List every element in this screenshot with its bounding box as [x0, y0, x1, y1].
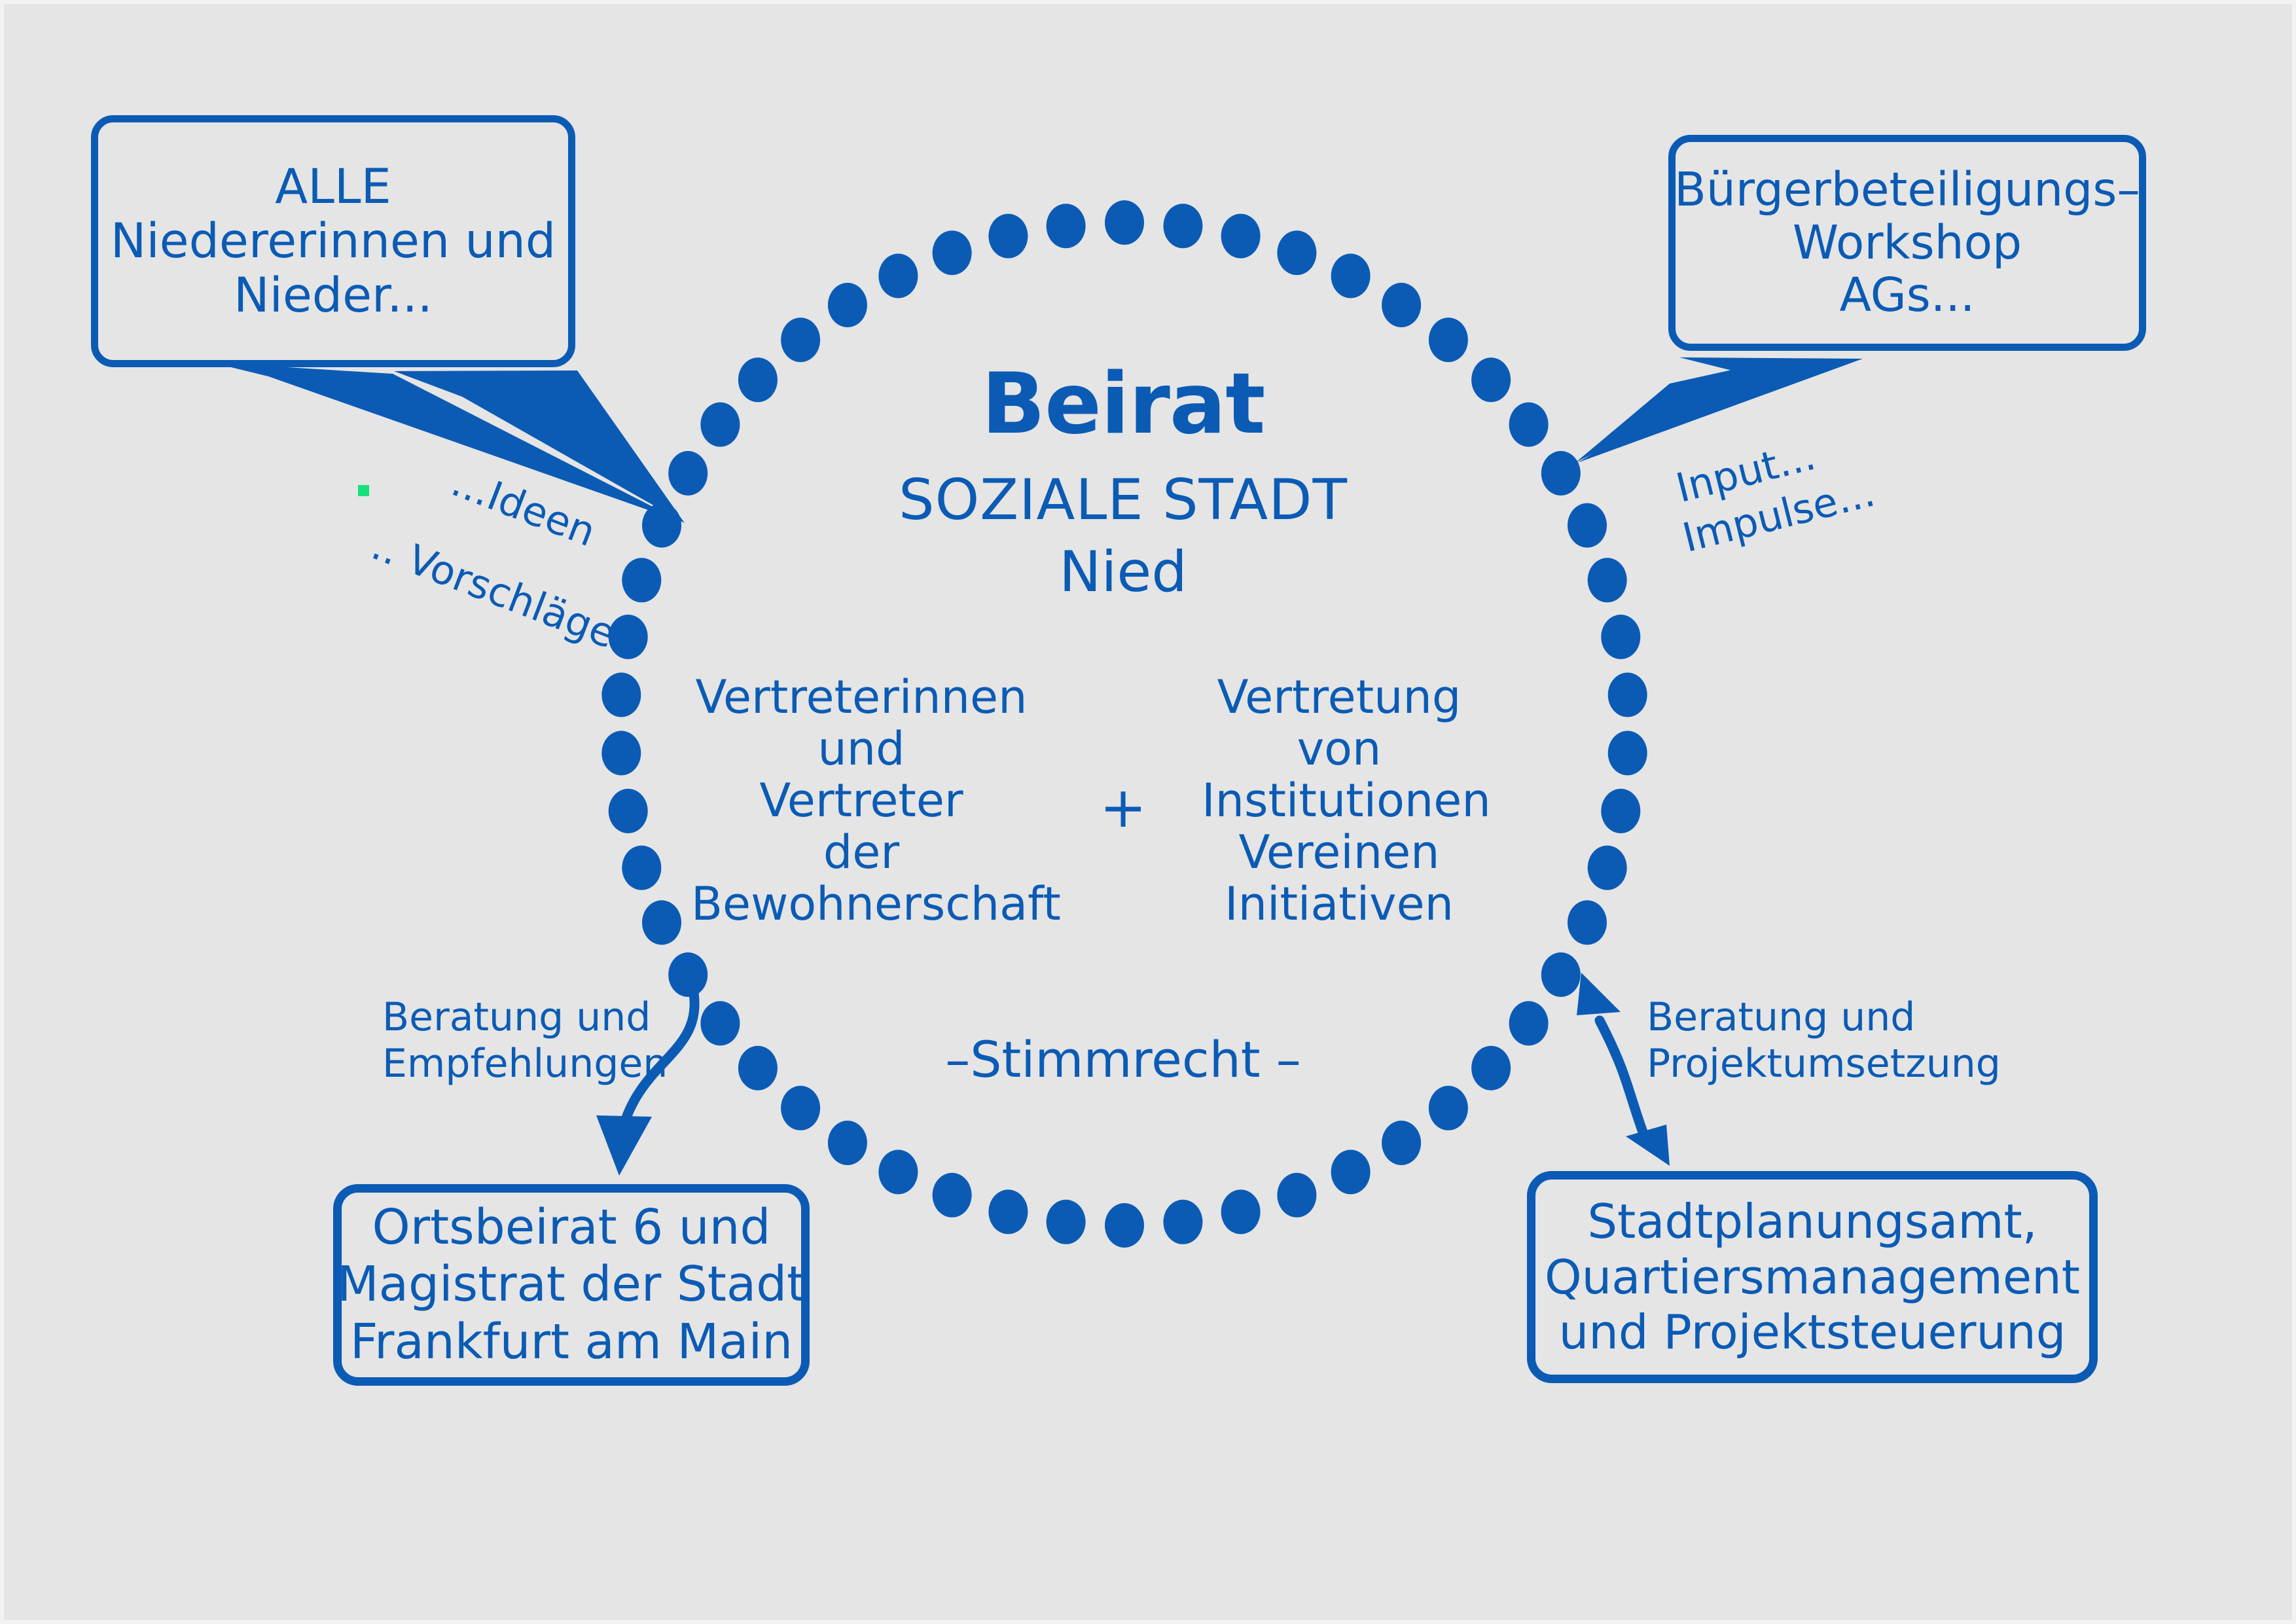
ring-dot	[668, 451, 708, 496]
ring-dot	[988, 1189, 1028, 1234]
bubble-alle-line-1: ALLE	[275, 160, 391, 214]
bubble-buerger-line-1: Bürgerbeteiligungs–	[1674, 164, 2140, 217]
ring-dot	[1588, 558, 1627, 602]
ring-dot	[1047, 204, 1086, 248]
ring-dot	[878, 254, 918, 298]
ring-dot	[1163, 204, 1202, 248]
ring-dot	[1429, 1086, 1468, 1130]
ring-dot	[1541, 451, 1581, 496]
center-right-column: Vertretung von Institutionen Vereinen In…	[1202, 672, 1477, 930]
box-stadtplanung-line-1: Stadtplanungsamt,	[1587, 1194, 2037, 1250]
right-column-line-2: von	[1202, 723, 1477, 775]
arrow-left-head	[596, 1115, 652, 1176]
box-ortsbeirat-line-1: Ortsbeirat 6 und	[372, 1199, 771, 1256]
ring-dot	[601, 731, 641, 776]
bubble-alle-line-3: Nieder...	[234, 268, 433, 323]
ring-dot	[1105, 200, 1144, 245]
ring-dot	[828, 1121, 867, 1165]
left-column-line-1: Vertreterinnen	[691, 672, 1031, 723]
ring-dot	[988, 214, 1028, 259]
right-column-line-1: Vertretung	[1202, 672, 1477, 723]
ring-dot	[1541, 952, 1581, 997]
ring-dot	[1601, 615, 1640, 659]
ring-dot	[1105, 1203, 1144, 1248]
ring-dot	[1608, 673, 1647, 717]
arrow-right-curve	[1600, 1020, 1647, 1143]
box-stadtplanungsamt[interactable]: Stadtplanungsamt, Quartiersmanagement un…	[1527, 1171, 2098, 1383]
ring-dot	[1471, 1046, 1511, 1091]
ring-dot	[1221, 1189, 1261, 1234]
annotation-beratung-empfehlungen: Beratung und Empfehlungen	[382, 994, 637, 1087]
ring-dot	[738, 1046, 778, 1091]
ring-dot	[828, 283, 867, 327]
ring-dot	[1471, 357, 1511, 402]
bubble-buerger-line-3: AGs...	[1839, 269, 1975, 322]
ring-dot	[781, 317, 820, 362]
box-ortsbeirat-magistrat[interactable]: Ortsbeirat 6 und Magistrat der Stadt Fra…	[333, 1184, 810, 1386]
box-ortsbeirat-line-3: Frankfurt am Main	[350, 1314, 793, 1371]
ring-dot	[1331, 254, 1371, 298]
center-title: Beirat	[796, 357, 1450, 452]
plus-sign: +	[1081, 776, 1166, 840]
ring-dot	[1568, 503, 1607, 548]
ring-dot	[878, 1150, 918, 1195]
ring-dot	[738, 357, 778, 402]
ring-dot	[642, 900, 681, 945]
ring-dot	[781, 1086, 820, 1130]
right-column-line-5: Initiativen	[1202, 878, 1477, 930]
center-subtitle-line-2: Nied	[796, 541, 1450, 604]
ring-dot	[622, 846, 661, 890]
left-column-line-4: der	[691, 827, 1031, 878]
ring-dot	[700, 403, 740, 447]
ring-dot	[1277, 1173, 1316, 1218]
left-column-line-5: Bewohnerschaft	[691, 878, 1031, 930]
ring-dot	[668, 952, 708, 997]
ring-dot	[1509, 403, 1549, 447]
ring-dot	[622, 558, 661, 602]
speech-bubble-buergerbeteiligung[interactable]: Bürgerbeteiligungs– Workshop AGs...	[1668, 135, 2146, 351]
annotation-beratung-rechts-line-1: Beratung und	[1647, 994, 1987, 1041]
right-column-line-3: Institutionen	[1202, 775, 1477, 827]
ring-dot	[1331, 1150, 1371, 1195]
ring-dot	[1429, 317, 1468, 362]
right-column-line-4: Vereinen	[1202, 827, 1477, 878]
box-ortsbeirat-line-2: Magistrat der Stadt	[337, 1256, 806, 1313]
ring-dot	[1277, 230, 1316, 275]
annotation-beratung-links-line-1: Beratung und	[382, 994, 637, 1041]
diagram-canvas: ALLE Niedererinnen und Nieder... Bürgerb…	[0, 0, 2296, 1624]
arrow-right-head-up	[1577, 973, 1621, 1015]
speech-bubble-alle[interactable]: ALLE Niedererinnen und Nieder...	[91, 115, 575, 367]
center-left-column: Vertreterinnen und Vertreter der Bewohne…	[691, 672, 1031, 930]
ring-dot	[601, 673, 641, 717]
left-column-line-2: und	[691, 723, 1031, 775]
bubble-buerger-line-2: Workshop	[1793, 217, 2022, 270]
ring-dot	[1163, 1200, 1202, 1244]
ring-dot	[1601, 789, 1640, 833]
annotation-beratung-projektumsetzung: Beratung und Projektumsetzung	[1647, 994, 1987, 1087]
arrow-right-head-down	[1626, 1125, 1670, 1166]
ring-dot	[933, 1173, 972, 1218]
annotation-beratung-rechts-line-2: Projektumsetzung	[1647, 1041, 1987, 1087]
ring-dot	[1382, 1121, 1421, 1165]
ring-dot	[1568, 900, 1607, 945]
ring-dot	[1608, 731, 1647, 776]
stimmrecht-label: –Stimmrecht –	[927, 1032, 1319, 1088]
ring-dot	[700, 1001, 740, 1045]
left-column-line-3: Vertreter	[691, 775, 1031, 827]
ring-dot	[1221, 214, 1261, 259]
box-stadtplanung-line-3: und Projektsteuerung	[1559, 1305, 2066, 1360]
ring-dot	[933, 230, 972, 275]
annotation-beratung-links-line-2: Empfehlungen	[382, 1041, 637, 1087]
green-square-marker	[358, 485, 369, 496]
ring-dot	[1382, 283, 1421, 327]
ring-dot	[609, 789, 648, 833]
ring-dot	[1588, 846, 1627, 890]
bubble-alle-line-2: Niedererinnen und	[111, 214, 556, 268]
ring-dot	[1509, 1001, 1549, 1045]
center-subtitle-line-1: SOZIALE STADT	[796, 469, 1450, 532]
box-stadtplanung-line-2: Quartiersmanagement	[1545, 1250, 2080, 1305]
ring-dot	[1047, 1200, 1086, 1244]
